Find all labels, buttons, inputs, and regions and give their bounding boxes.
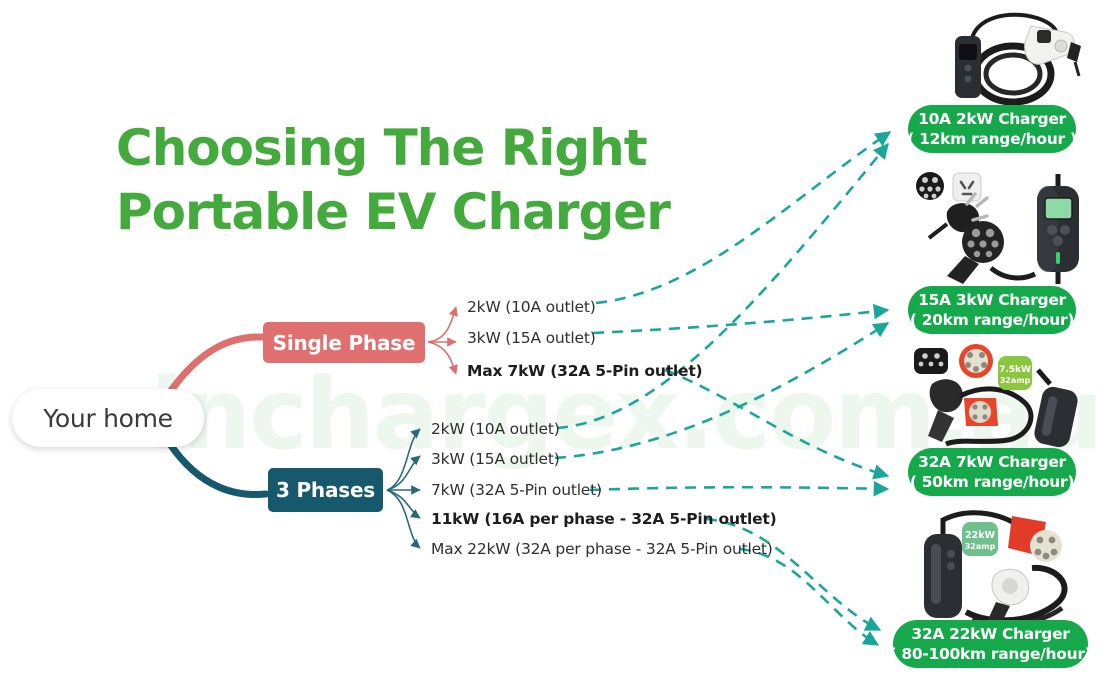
link-three-opt-5: [387, 490, 420, 548]
product-photo-22kw-charger: 22kW 32amp: [900, 508, 1092, 626]
result-charger-3kw-line1: 15A 3kW Charger: [918, 290, 1066, 310]
link-three-opt-4: [387, 490, 420, 518]
node-your-home-label: Your home: [43, 404, 173, 433]
result-charger-7kw-line1: 32A 7kW Charger: [918, 452, 1066, 472]
node-three-phases-label: 3 Phases: [276, 478, 375, 502]
link-single-opt-1: [428, 307, 456, 342]
option-three-2kw: 2kW (10A outlet): [431, 420, 560, 438]
link-home-to-single-phase: [170, 337, 262, 392]
node-your-home[interactable]: Your home: [12, 389, 204, 447]
link-3p22kw-to-charger-22kw: [740, 549, 878, 645]
result-charger-22kw-line1: 32A 22kW Charger: [911, 624, 1069, 644]
result-charger-7kw[interactable]: 32A 7kW Charger ( 50km range/hour): [908, 448, 1076, 496]
node-three-phases[interactable]: 3 Phases: [268, 468, 383, 512]
link-3p11kw-to-charger-22kw: [706, 519, 880, 630]
badge-7kw-line2: 32amp: [1000, 376, 1031, 385]
result-charger-7kw-line2: ( 50km range/hour): [910, 472, 1074, 492]
result-charger-2kw-line2: ( 12km range/hour ): [907, 129, 1076, 149]
link-home-to-three-phases: [170, 444, 266, 495]
link-3p7kw-to-charger-7kw: [590, 487, 888, 490]
product-photo-7kw-charger: 7.5kW 32amp: [898, 340, 1090, 456]
result-charger-2kw[interactable]: 10A 2kW Charger ( 12km range/hour ): [908, 105, 1076, 153]
result-charger-3kw-line2: ( 20km range/hour): [910, 310, 1074, 330]
node-single-phase-label: Single Phase: [273, 331, 416, 355]
title-line-1: Choosing The Right: [116, 119, 647, 177]
link-sp3kw-to-charger-3kw: [593, 310, 888, 333]
page-title: Choosing The Right Portable EV Charger: [116, 116, 670, 244]
infographic-canvas: inchargex.com.au: [0, 0, 1100, 683]
title-line-2: Portable EV Charger: [116, 180, 670, 244]
result-charger-2kw-line1: 10A 2kW Charger: [918, 109, 1066, 129]
link-sp7kw-to-charger-7kw: [665, 370, 888, 476]
option-single-3kw: 3kW (15A outlet): [467, 329, 596, 347]
result-charger-3kw[interactable]: 15A 3kW Charger ( 20km range/hour): [908, 286, 1076, 334]
link-single-opt-3: [428, 342, 456, 374]
badge-22kw-line1: 22kW: [965, 530, 996, 541]
badge-7kw-line1: 7.5kW: [999, 365, 1031, 375]
option-three-7kw: 7kW (32A 5-Pin outlet): [431, 481, 602, 499]
option-single-7kw: Max 7kW (32A 5-Pin outlet): [467, 362, 702, 380]
option-three-11kw: 11kW (16A per phase - 32A 5-Pin outlet): [431, 510, 777, 528]
link-three-opt-2: [387, 456, 420, 490]
option-three-3kw: 3kW (15A outlet): [431, 450, 560, 468]
option-single-2kw: 2kW (10A outlet): [467, 298, 596, 316]
link-three-opt-1: [387, 429, 420, 490]
result-charger-22kw-line2: ( 80-100km range/hour): [890, 644, 1092, 664]
link-3p3kw-to-charger-3kw: [555, 323, 888, 458]
result-charger-22kw[interactable]: 32A 22kW Charger ( 80-100km range/hour): [893, 620, 1088, 668]
badge-22kw-line2: 32amp: [965, 542, 996, 551]
product-photo-3kw-charger: [895, 168, 1091, 284]
product-photo-2kw-charger: [925, 2, 1085, 110]
option-three-22kw: Max 22kW (32A per phase - 32A 5-Pin outl…: [431, 540, 773, 558]
node-single-phase[interactable]: Single Phase: [263, 322, 425, 363]
